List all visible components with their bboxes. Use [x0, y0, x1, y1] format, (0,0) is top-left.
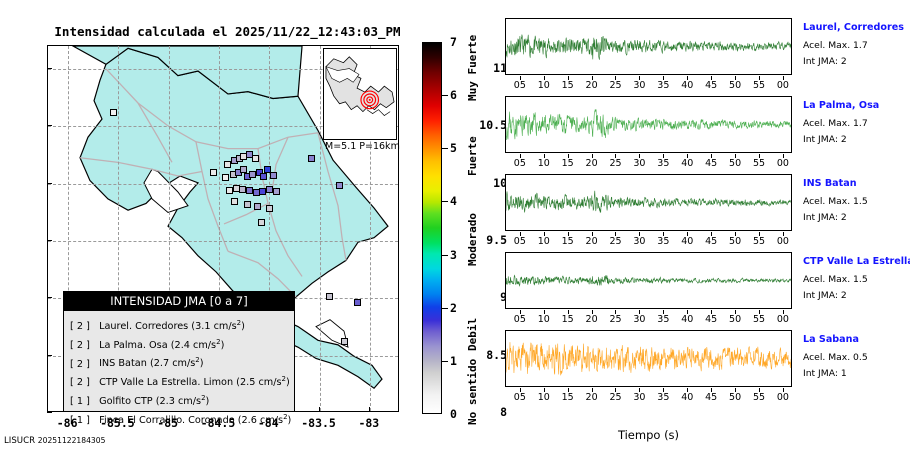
station-marker[interactable] — [326, 293, 333, 300]
legend-row-name: La Palma. Osa (2.4 cm/s — [96, 340, 216, 351]
time-tick-label: 20 — [586, 392, 598, 403]
time-tick-label: 45 — [705, 392, 717, 403]
time-tick-label: 00 — [777, 80, 789, 91]
station-marker[interactable] — [270, 172, 277, 179]
time-tick-label: 30 — [633, 236, 645, 247]
intensity-legend-box: INTENSIDAD JMA [0 a 7] [ 2 ] Laurel. Cor… — [63, 291, 295, 412]
colorbar-tick — [442, 95, 448, 96]
time-tick-label: 25 — [609, 314, 621, 325]
time-axis-ticks: 051015202530354045505500 — [505, 232, 792, 246]
time-tick-label: 10 — [538, 314, 550, 325]
time-tick-label: 00 — [777, 158, 789, 169]
colorbar-category-label: Fuerte — [466, 136, 479, 176]
station-accel-label: Acel. Max. 1.5 — [803, 196, 868, 207]
station-name-label: La Sabana — [803, 334, 859, 345]
station-intensity-label: Int JMA: 2 — [803, 56, 847, 67]
seismogram-trace — [506, 253, 791, 308]
map-lat-tick-label: 10 — [447, 176, 507, 190]
trace-path — [506, 275, 791, 286]
map-lon-tick-label: -83 — [339, 416, 399, 430]
colorbar-tick-label: 3 — [450, 248, 457, 262]
station-name-label: INS Batan — [803, 178, 857, 189]
time-tick-label: 50 — [729, 392, 741, 403]
time-tick-label: 55 — [753, 392, 765, 403]
time-tick-label: 05 — [514, 236, 526, 247]
time-tick-label: 05 — [514, 392, 526, 403]
colorbar-tick-label: 0 — [450, 407, 457, 421]
time-tick-label: 50 — [729, 80, 741, 91]
time-tick-label: 30 — [633, 158, 645, 169]
station-marker[interactable] — [273, 188, 280, 195]
legend-row: [ 1 ] Golfito CTP (2.3 cm/s2) — [70, 391, 288, 410]
station-marker[interactable] — [341, 338, 348, 345]
time-tick-label: 35 — [657, 80, 669, 91]
station-marker[interactable] — [258, 219, 265, 226]
time-tick-label: 40 — [681, 392, 693, 403]
map-lat-tick — [47, 240, 52, 241]
colorbar-tick-label: 5 — [450, 141, 457, 155]
time-tick-label: 10 — [538, 392, 550, 403]
station-marker[interactable] — [239, 186, 246, 193]
legend-row: [ 1 ] Finca El Corralillo. Coronado (2.6… — [70, 410, 288, 429]
colorbar-tick-label: 7 — [450, 35, 457, 49]
colorbar-category-label: Moderado — [466, 213, 479, 266]
legend-row-name: Laurel. Corredores (3.1 cm/s — [96, 321, 237, 332]
time-tick-label: 50 — [729, 158, 741, 169]
trace-path — [506, 191, 791, 213]
station-name-label: Laurel, Corredores — [803, 22, 904, 33]
colorbar-tick — [442, 255, 448, 256]
time-tick-label: 40 — [681, 158, 693, 169]
station-marker[interactable] — [210, 169, 217, 176]
time-tick-label: 15 — [562, 314, 574, 325]
page-title: Intensidad calculada el 2025/11/22_12:43… — [0, 24, 455, 39]
time-tick-label: 55 — [753, 314, 765, 325]
station-accel-label: Acel. Max. 1.5 — [803, 274, 868, 285]
station-marker[interactable] — [246, 187, 253, 194]
time-tick-label: 05 — [514, 80, 526, 91]
gridline-horizontal — [48, 241, 398, 242]
inset-magnitude-label: M=5.1 P=16km — [325, 141, 415, 152]
legend-row: [ 2 ] CTP Valle La Estrella. Limon (2.5 … — [70, 372, 288, 391]
time-tick-label: 55 — [753, 80, 765, 91]
time-tick-label: 35 — [657, 314, 669, 325]
legend-row-name: INS Batan (2.7 cm/s — [96, 359, 195, 370]
legend-header: INTENSIDAD JMA [0 a 7] — [64, 292, 294, 311]
inset-trench — [367, 110, 390, 116]
station-intensity-label: Int JMA: 2 — [803, 212, 847, 223]
time-axis-ticks: 051015202530354045505500 — [505, 310, 792, 324]
colorbar-tick-label: 4 — [450, 194, 457, 208]
colorbar-tick — [442, 361, 448, 362]
time-tick-label: 40 — [681, 236, 693, 247]
colorbar-tick — [442, 308, 448, 309]
trace-path — [506, 35, 791, 60]
time-tick-label: 00 — [777, 392, 789, 403]
colorbar-category-label: No sentido — [466, 359, 479, 425]
map-lat-tick-label: 10.5 — [447, 118, 507, 132]
colorbar-tick-label: 6 — [450, 88, 457, 102]
station-marker[interactable] — [308, 155, 315, 162]
time-tick-label: 20 — [586, 158, 598, 169]
seismogram-panel[interactable] — [505, 174, 792, 231]
trace-path — [506, 342, 791, 375]
legend-row-name: CTP Valle La Estrella. Limon (2.5 cm/s — [96, 377, 282, 388]
colorbar-tick — [442, 148, 448, 149]
legend-row-count: [ 2 ] — [70, 375, 96, 391]
legend-list: [ 2 ] Laurel. Corredores (3.1 cm/s2)[ 2 … — [64, 311, 294, 428]
station-marker[interactable] — [110, 109, 117, 116]
footer-credit: LISUCR 20251122184305 — [4, 436, 105, 446]
gridline-horizontal — [48, 184, 398, 185]
seismogram-panel[interactable] — [505, 96, 792, 153]
station-intensity-label: Int JMA: 2 — [803, 134, 847, 145]
station-accel-label: Acel. Max. 1.7 — [803, 118, 868, 129]
map-lat-tick — [47, 183, 52, 184]
trace-path — [506, 109, 791, 139]
legend-row-close: ) — [288, 415, 292, 426]
time-tick-label: 25 — [609, 236, 621, 247]
station-marker[interactable] — [336, 182, 343, 189]
legend-row-count: [ 2 ] — [70, 338, 96, 354]
map-lat-tick — [47, 125, 52, 126]
station-marker[interactable] — [249, 171, 256, 178]
time-tick-label: 45 — [705, 236, 717, 247]
time-tick-label: 15 — [562, 158, 574, 169]
time-tick-label: 50 — [729, 236, 741, 247]
station-marker[interactable] — [224, 161, 231, 168]
legend-row-name: Golfito CTP (2.3 cm/s — [96, 396, 201, 407]
station-marker[interactable] — [354, 299, 361, 306]
seismogram-panel[interactable] — [505, 330, 792, 387]
station-marker[interactable] — [266, 205, 273, 212]
time-tick-label: 25 — [609, 392, 621, 403]
epicenter-marker — [361, 91, 379, 109]
map-lat-tick — [47, 297, 52, 298]
colorbar-tick-label: 1 — [450, 354, 457, 368]
legend-row-close: ) — [206, 396, 210, 407]
station-marker[interactable] — [259, 188, 266, 195]
map-lon-tick — [369, 407, 370, 412]
station-intensity-label: Int JMA: 1 — [803, 368, 847, 379]
time-tick-label: 10 — [538, 236, 550, 247]
time-tick-label: 40 — [681, 314, 693, 325]
time-tick-label: 20 — [586, 80, 598, 91]
legend-row-close: ) — [221, 340, 225, 351]
time-tick-label: 00 — [777, 236, 789, 247]
time-tick-label: 05 — [514, 158, 526, 169]
station-accel-label: Acel. Max. 0.5 — [803, 352, 868, 363]
footer-org: LISUCR — [4, 436, 35, 446]
time-tick-label: 15 — [562, 80, 574, 91]
time-tick-label: 30 — [633, 392, 645, 403]
seismogram-trace — [506, 19, 791, 74]
legend-row: [ 2 ] Laurel. Corredores (3.1 cm/s2) — [70, 316, 288, 335]
time-tick-label: 10 — [538, 80, 550, 91]
station-marker[interactable] — [222, 174, 229, 181]
seismogram-trace — [506, 331, 791, 386]
legend-row: [ 2 ] La Palma. Osa (2.4 cm/s2) — [70, 335, 288, 354]
colorbar-category-label: Muy Fuerte — [466, 35, 479, 101]
legend-row: [ 2 ] INS Batan (2.7 cm/s2) — [70, 353, 288, 372]
time-tick-label: 50 — [729, 314, 741, 325]
legend-row-count: [ 2 ] — [70, 319, 96, 335]
inset-svg — [324, 49, 396, 139]
seismogram-trace — [506, 175, 791, 230]
time-tick-label: 40 — [681, 80, 693, 91]
colorbar-tick — [442, 201, 448, 202]
time-tick-label: 45 — [705, 158, 717, 169]
station-marker[interactable] — [252, 155, 259, 162]
time-tick-label: 30 — [633, 314, 645, 325]
time-tick-label: 55 — [753, 158, 765, 169]
time-tick-label: 35 — [657, 158, 669, 169]
time-axis-ticks: 051015202530354045505500 — [505, 76, 792, 90]
legend-row-close: ) — [200, 359, 204, 370]
time-tick-label: 45 — [705, 314, 717, 325]
map-lat-tick — [47, 68, 52, 69]
colorbar-tick-label: 2 — [450, 301, 457, 315]
station-name-label: La Palma, Osa — [803, 100, 879, 111]
time-tick-label: 55 — [753, 236, 765, 247]
station-marker[interactable] — [254, 203, 261, 210]
station-accel-label: Acel. Max. 1.7 — [803, 40, 868, 51]
map-lat-tick — [47, 355, 52, 356]
time-tick-label: 30 — [633, 80, 645, 91]
time-tick-label: 00 — [777, 314, 789, 325]
time-tick-label: 25 — [609, 80, 621, 91]
time-tick-label: 45 — [705, 80, 717, 91]
station-marker[interactable] — [260, 173, 267, 180]
time-tick-label: 25 — [609, 158, 621, 169]
time-tick-label: 15 — [562, 392, 574, 403]
seismogram-trace — [506, 97, 791, 152]
time-tick-label: 35 — [657, 392, 669, 403]
station-name-label: CTP Valle La Estrella, L — [803, 256, 910, 267]
seismogram-panel[interactable] — [505, 18, 792, 75]
time-axis-ticks: 051015202530354045505500 — [505, 154, 792, 168]
station-marker[interactable] — [231, 198, 238, 205]
time-tick-label: 05 — [514, 314, 526, 325]
intensity-colorbar — [422, 42, 442, 414]
map-lon-tick — [319, 407, 320, 412]
time-tick-label: 15 — [562, 236, 574, 247]
station-marker[interactable] — [226, 187, 233, 194]
time-axis-label: Tiempo (s) — [505, 428, 792, 442]
time-tick-label: 20 — [586, 236, 598, 247]
legend-row-count: [ 2 ] — [70, 357, 96, 373]
legend-row-count: [ 1 ] — [70, 413, 96, 429]
map-lat-tick — [47, 412, 52, 413]
legend-row-close: ) — [241, 321, 245, 332]
inset-landmass — [326, 57, 394, 112]
seismogram-panel[interactable] — [505, 252, 792, 309]
legend-row-name: Finca El Corralillo. Coronado (2.6 cm/s — [96, 415, 283, 426]
legend-row-close: ) — [286, 377, 290, 388]
colorbar-category-label: Debil — [466, 318, 479, 351]
time-axis-ticks: 051015202530354045505500 — [505, 388, 792, 402]
station-marker[interactable] — [244, 201, 251, 208]
time-tick-label: 20 — [586, 314, 598, 325]
station-marker[interactable] — [266, 186, 273, 193]
station-intensity-label: Int JMA: 2 — [803, 290, 847, 301]
locator-inset-map[interactable] — [323, 48, 397, 140]
footer-code: 20251122184305 — [38, 436, 106, 445]
legend-row-count: [ 1 ] — [70, 394, 96, 410]
time-tick-label: 10 — [538, 158, 550, 169]
time-tick-label: 35 — [657, 236, 669, 247]
